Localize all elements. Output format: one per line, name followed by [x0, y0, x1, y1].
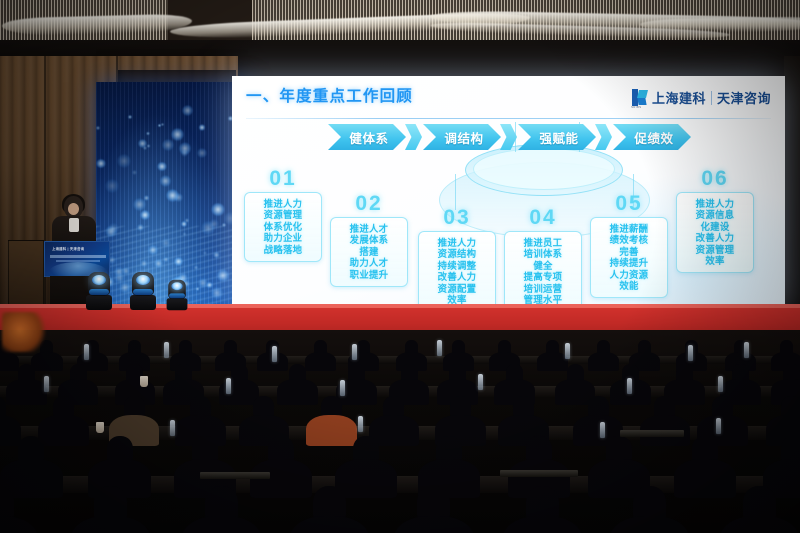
platform-inner	[473, 148, 615, 190]
desk-bottle	[226, 378, 231, 394]
item-card-line: 资源管理	[248, 209, 318, 220]
bokeh-particle	[162, 139, 174, 151]
item-04: 04 推进员工培训体系健全提高专项培训运营管理水平	[504, 207, 582, 312]
brand-lockup: SRIBS 上海建科 天津咨询	[632, 88, 771, 107]
chevron-right-icon	[500, 124, 517, 150]
item-card-line: 资源配置	[422, 283, 492, 294]
bokeh-particle	[105, 179, 119, 193]
item-card-line: 推进薪酬	[594, 223, 664, 234]
process-step-3: 强赋能	[518, 124, 596, 150]
item-card-line: 体系优化	[248, 221, 318, 232]
audience-shoulders	[290, 516, 369, 533]
audience-shoulders	[674, 459, 736, 498]
desk-bottle	[358, 416, 363, 432]
bokeh-particle	[213, 252, 219, 258]
item-card-line: 改善人力	[680, 232, 750, 243]
item-number: 05	[590, 193, 668, 214]
bokeh-particle	[137, 224, 144, 231]
speaker-shirt	[69, 218, 79, 232]
desk-cup	[140, 376, 148, 387]
bokeh-particle	[185, 218, 190, 223]
item-card: 推进人力资源信息化建设改善人力资源管理效率	[676, 192, 754, 273]
bokeh-particle	[146, 132, 149, 135]
bokeh-particle	[166, 189, 179, 202]
item-card: 推进人力资源管理体系优化助力企业战略落地	[244, 192, 322, 262]
bokeh-particle	[211, 287, 223, 299]
item-01: 01 推进人力资源管理体系优化助力企业战略落地	[244, 168, 322, 262]
brand-name: 上海建科	[652, 88, 706, 107]
item-card-line: 资源信息	[680, 209, 750, 220]
bokeh-particle	[182, 105, 193, 116]
conference-photo-scene: 一、年度重点工作回顾 SRIBS 上海建科 天津咨询 健体系调结构强赋能促	[0, 0, 800, 533]
chevron-right-icon	[595, 124, 612, 150]
audience-shoulders	[277, 379, 318, 405]
item-card-line: 助力企业	[248, 232, 318, 243]
item-card-line: 健全	[508, 260, 578, 271]
header-divider	[246, 118, 771, 119]
bokeh-particle	[171, 128, 183, 140]
audience-shoulders	[306, 415, 356, 447]
item-card-line: 效能	[594, 280, 664, 291]
desk-bottle	[478, 374, 483, 390]
audience-shoulders	[71, 516, 150, 533]
item-card: 推进人才发展体系搭建助力人才职业提升	[330, 217, 408, 287]
bokeh-particle	[198, 278, 208, 288]
item-card-line: 助力人才	[334, 257, 404, 268]
item-number: 02	[330, 193, 408, 214]
stage-moving-light	[130, 272, 156, 310]
desk-bottle	[600, 422, 605, 438]
desk-bottle	[44, 376, 49, 392]
light-lens-icon	[92, 275, 106, 285]
audience-shoulders	[720, 516, 799, 533]
stage-moving-light	[86, 272, 112, 310]
desk-bottle	[744, 342, 749, 358]
bokeh-particle	[161, 123, 164, 126]
audience-shoulders	[335, 459, 397, 498]
item-card-line: 推进人力	[248, 198, 318, 209]
process-step-4: 促绩效	[613, 124, 691, 150]
process-step-1: 健体系	[328, 124, 406, 150]
audience-shoulders	[537, 352, 568, 372]
bokeh-particle	[140, 210, 150, 220]
desk-bottle	[565, 343, 570, 359]
bokeh-particle	[181, 149, 188, 156]
bokeh-particle	[217, 269, 229, 281]
bokeh-particle	[140, 260, 147, 267]
item-card: 推进薪酬绩效考核完善持续提升人力资源效能	[590, 217, 668, 298]
audience-shoulders	[38, 415, 88, 447]
audience-shoulders	[394, 516, 473, 533]
desk-bottle	[688, 345, 693, 361]
desk-bottle	[164, 342, 169, 358]
item-number: 06	[676, 168, 754, 189]
bokeh-particle	[157, 162, 166, 171]
item-card-line: 培训运营	[508, 283, 578, 294]
bokeh-particle	[148, 245, 158, 255]
item-card: 推进员工培训体系健全提高专项培训运营管理水平	[504, 231, 582, 312]
desk-cup	[96, 422, 104, 433]
desk-laptop	[620, 430, 684, 437]
logo-caption: SRIBS	[631, 105, 642, 109]
audience-area	[0, 330, 800, 533]
wall-right	[784, 56, 800, 318]
audience-shoulders	[0, 415, 21, 447]
slide-header: 一、年度重点工作回顾 SRIBS 上海建科 天津咨询	[246, 84, 773, 118]
stage-moving-light	[167, 280, 188, 310]
brand-unit: 天津咨询	[717, 88, 771, 107]
item-card-line: 搭建	[334, 246, 404, 257]
light-lens-icon	[136, 275, 150, 285]
audience-shoulders	[31, 352, 62, 372]
audience-shoulders	[305, 352, 336, 372]
audience-shoulders	[0, 516, 38, 533]
audience-shoulders	[6, 379, 47, 405]
desk-laptop	[500, 470, 578, 477]
bokeh-particle	[183, 232, 187, 236]
item-card-line: 战略落地	[248, 244, 318, 255]
bokeh-particle	[194, 265, 198, 269]
podium-panel-brand: 上海建科 | 天津咨询	[52, 246, 84, 251]
presentation-slide: 一、年度重点工作回顾 SRIBS 上海建科 天津咨询 健体系调结构强赋能促	[232, 76, 785, 312]
bokeh-particle	[197, 148, 207, 158]
bokeh-particle	[199, 124, 205, 130]
item-card-line: 推进人才	[334, 223, 404, 234]
item-card-line: 发展体系	[334, 234, 404, 245]
audience-shoulders	[182, 516, 261, 533]
bokeh-particle	[144, 195, 149, 200]
audience-shoulders	[610, 516, 689, 533]
desk-bottle	[170, 420, 175, 436]
bokeh-particle	[128, 115, 132, 119]
desk-bottle	[352, 344, 357, 360]
bokeh-particle	[96, 126, 100, 130]
item-card-line: 推进人力	[422, 237, 492, 248]
item-card-line: 推进人力	[680, 198, 750, 209]
bokeh-particle	[174, 257, 183, 266]
bokeh-particle	[96, 159, 106, 169]
item-card-line: 资源管理	[680, 244, 750, 255]
item-card-line: 绩效考核	[594, 234, 664, 245]
company-logo-icon: SRIBS	[632, 89, 647, 106]
brand-separator	[711, 91, 712, 105]
speaker-face	[68, 203, 79, 215]
bokeh-particle	[160, 175, 171, 186]
desk-bottle	[340, 380, 345, 396]
platform-tick	[455, 174, 456, 210]
podium-panel-line	[50, 255, 106, 258]
floral-arrangement	[2, 312, 46, 352]
item-03: 03 推进人力资源结构持续调整改善人力资源配置效率	[418, 207, 496, 312]
desk-bottle	[718, 376, 723, 392]
item-02: 02 推进人才发展体系搭建助力人才职业提升	[330, 193, 408, 287]
item-card: 推进人力资源结构持续调整改善人力资源配置效率	[418, 231, 496, 312]
item-card-line: 人力资源	[594, 269, 664, 280]
desk-bottle	[716, 418, 721, 434]
bokeh-particle	[119, 282, 130, 293]
desk-bottle	[272, 346, 277, 362]
item-card-line: 持续调整	[422, 260, 492, 271]
bokeh-particle	[201, 221, 215, 235]
item-card-line: 提高专项	[508, 271, 578, 282]
bokeh-particle	[147, 144, 151, 148]
desk-bottle	[627, 378, 632, 394]
item-05: 05 推进薪酬绩效考核完善持续提升人力资源效能	[590, 193, 668, 298]
bokeh-particle	[211, 203, 224, 216]
process-arrow-banner: 健体系调结构强赋能促绩效	[328, 124, 689, 150]
bokeh-particle	[117, 154, 131, 168]
audience-shoulders	[0, 352, 19, 372]
audience-shoulders	[588, 352, 619, 372]
bokeh-particle	[154, 259, 162, 267]
led-side-screen	[96, 82, 248, 306]
item-card-line: 职业提升	[334, 269, 404, 280]
desk-bottle	[84, 344, 89, 360]
item-card-line: 完善	[594, 246, 664, 257]
desk-bottle	[437, 340, 442, 356]
item-number: 03	[418, 207, 496, 228]
stage-edge-highlight	[0, 304, 800, 308]
item-number: 04	[504, 207, 582, 228]
item-card-line: 推进员工	[508, 237, 578, 248]
item-card-line: 化建设	[680, 221, 750, 232]
bokeh-particle	[132, 170, 137, 175]
chevron-right-icon	[405, 124, 422, 150]
item-card-line: 持续提升	[594, 257, 664, 268]
item-number: 01	[244, 168, 322, 189]
item-card-line: 资源结构	[422, 248, 492, 259]
ceiling	[0, 0, 800, 58]
light-lens-icon	[171, 282, 182, 290]
desk-laptop	[200, 472, 270, 479]
audience-shoulders	[503, 516, 582, 533]
item-card-line: 效率	[680, 255, 750, 266]
bokeh-particle	[196, 287, 200, 291]
item-card-line: 改善人力	[422, 271, 492, 282]
item-card-line: 培训体系	[508, 248, 578, 259]
item-06: 06 推进人力资源信息化建设改善人力资源管理效率	[676, 168, 754, 273]
process-step-2: 调结构	[423, 124, 501, 150]
